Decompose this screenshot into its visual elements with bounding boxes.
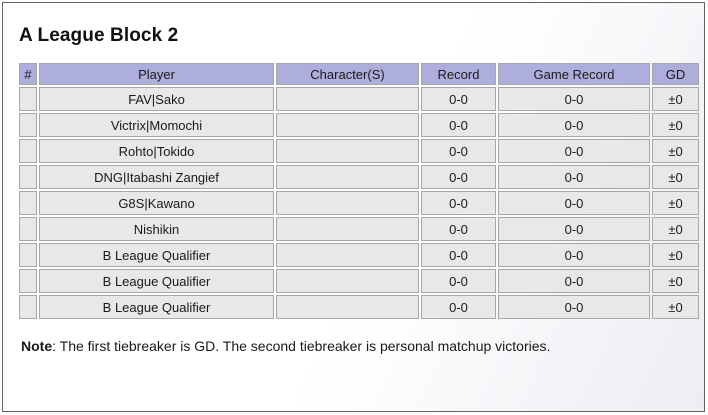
- table-row: Victrix|Momochi 0-0 0-0 ±0: [19, 113, 699, 137]
- cell-gd: ±0: [652, 217, 699, 241]
- cell-gd: ±0: [652, 165, 699, 189]
- table-row: B League Qualifier 0-0 0-0 ±0: [19, 243, 699, 267]
- cell-characters: [276, 191, 419, 215]
- cell-game-record: 0-0: [498, 87, 650, 111]
- cell-gd: ±0: [652, 269, 699, 293]
- cell-number: [19, 165, 37, 189]
- cell-record: 0-0: [421, 191, 496, 215]
- cell-game-record: 0-0: [498, 165, 650, 189]
- cell-game-record: 0-0: [498, 191, 650, 215]
- cell-record: 0-0: [421, 243, 496, 267]
- page-content: A League Block 2 # Player Character(S) R…: [3, 3, 704, 355]
- table-row: B League Qualifier 0-0 0-0 ±0: [19, 295, 699, 319]
- cell-number: [19, 191, 37, 215]
- cell-game-record: 0-0: [498, 269, 650, 293]
- cell-gd: ±0: [652, 139, 699, 163]
- cell-gd: ±0: [652, 191, 699, 215]
- table-body: FAV|Sako 0-0 0-0 ±0 Victrix|Momochi 0-0 …: [19, 87, 699, 319]
- cell-number: [19, 243, 37, 267]
- cell-record: 0-0: [421, 139, 496, 163]
- note-separator: :: [52, 338, 60, 354]
- column-header-game-record[interactable]: Game Record: [498, 63, 650, 85]
- cell-game-record: 0-0: [498, 243, 650, 267]
- cell-characters: [276, 165, 419, 189]
- cell-number: [19, 87, 37, 111]
- cell-number: [19, 113, 37, 137]
- cell-record: 0-0: [421, 87, 496, 111]
- table-header-row: # Player Character(S) Record Game Record…: [19, 63, 699, 85]
- cell-player: Victrix|Momochi: [39, 113, 274, 137]
- column-header-gd[interactable]: GD: [652, 63, 699, 85]
- table-row: DNG|Itabashi Zangief 0-0 0-0 ±0: [19, 165, 699, 189]
- cell-player: B League Qualifier: [39, 269, 274, 293]
- note-label: Note: [21, 338, 52, 354]
- cell-gd: ±0: [652, 295, 699, 319]
- cell-record: 0-0: [421, 269, 496, 293]
- page-title: A League Block 2: [19, 25, 690, 47]
- cell-gd: ±0: [652, 243, 699, 267]
- cell-number: [19, 269, 37, 293]
- cell-number: [19, 217, 37, 241]
- cell-characters: [276, 113, 419, 137]
- cell-player: FAV|Sako: [39, 87, 274, 111]
- cell-record: 0-0: [421, 217, 496, 241]
- cell-game-record: 0-0: [498, 113, 650, 137]
- cell-player: Rohto|Tokido: [39, 139, 274, 163]
- cell-record: 0-0: [421, 113, 496, 137]
- cell-characters: [276, 139, 419, 163]
- cell-player: DNG|Itabashi Zangief: [39, 165, 274, 189]
- cell-game-record: 0-0: [498, 295, 650, 319]
- tiebreaker-note: Note: The first tiebreaker is GD. The se…: [21, 337, 690, 355]
- cell-characters: [276, 243, 419, 267]
- cell-number: [19, 295, 37, 319]
- table-row: B League Qualifier 0-0 0-0 ±0: [19, 269, 699, 293]
- column-header-player[interactable]: Player: [39, 63, 274, 85]
- cell-gd: ±0: [652, 87, 699, 111]
- cell-player: B League Qualifier: [39, 295, 274, 319]
- cell-game-record: 0-0: [498, 217, 650, 241]
- table-row: G8S|Kawano 0-0 0-0 ±0: [19, 191, 699, 215]
- table-row: Rohto|Tokido 0-0 0-0 ±0: [19, 139, 699, 163]
- cell-player: B League Qualifier: [39, 243, 274, 267]
- cell-player: Nishikin: [39, 217, 274, 241]
- table-row: FAV|Sako 0-0 0-0 ±0: [19, 87, 699, 111]
- standings-table: # Player Character(S) Record Game Record…: [17, 61, 701, 321]
- table-header: # Player Character(S) Record Game Record…: [19, 63, 699, 85]
- cell-characters: [276, 87, 419, 111]
- column-header-record[interactable]: Record: [421, 63, 496, 85]
- cell-characters: [276, 217, 419, 241]
- cell-characters: [276, 295, 419, 319]
- cell-record: 0-0: [421, 295, 496, 319]
- cell-player: G8S|Kawano: [39, 191, 274, 215]
- cell-number: [19, 139, 37, 163]
- table-row: Nishikin 0-0 0-0 ±0: [19, 217, 699, 241]
- cell-record: 0-0: [421, 165, 496, 189]
- cell-game-record: 0-0: [498, 139, 650, 163]
- note-text: The first tiebreaker is GD. The second t…: [60, 338, 551, 354]
- cell-characters: [276, 269, 419, 293]
- column-header-number[interactable]: #: [19, 63, 37, 85]
- cell-gd: ±0: [652, 113, 699, 137]
- column-header-characters[interactable]: Character(S): [276, 63, 419, 85]
- page-frame: A League Block 2 # Player Character(S) R…: [2, 2, 705, 412]
